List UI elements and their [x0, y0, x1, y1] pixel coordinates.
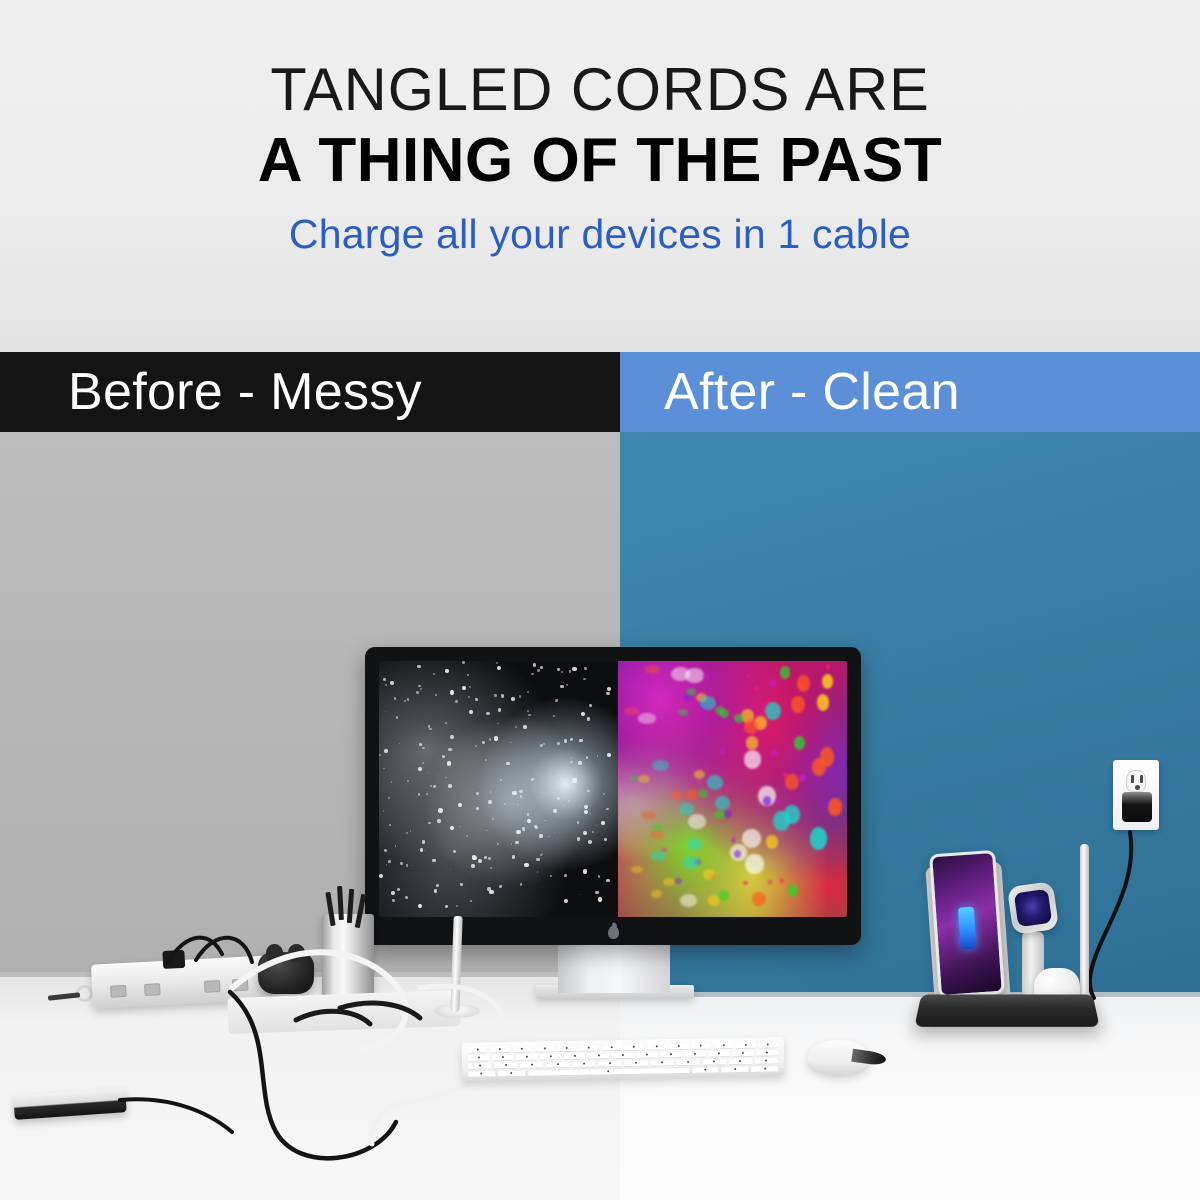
key: [490, 1047, 509, 1053]
smartwatch-screen: [1014, 889, 1052, 927]
key: [520, 1062, 543, 1068]
smartwatch-charging: [1007, 881, 1059, 935]
key: [647, 1044, 666, 1050]
key: [572, 1061, 595, 1067]
power-adapter-icon: [1122, 792, 1152, 822]
key: [651, 1060, 674, 1066]
promo-image-root: TANGLED CORDS ARE A THING OF THE PAST Ch…: [0, 0, 1200, 1200]
key: [669, 1044, 688, 1050]
key: [677, 1060, 700, 1066]
cable-layer: [0, 432, 1200, 1200]
key: [468, 1047, 487, 1053]
header-section: TANGLED CORDS ARE A THING OF THE PAST Ch…: [0, 0, 1200, 352]
key: [733, 1051, 754, 1057]
key: [498, 1071, 525, 1077]
key: [625, 1061, 648, 1067]
keyboard: [462, 1037, 785, 1081]
key: [494, 1063, 517, 1069]
headline-line-1: TANGLED CORDS ARE: [270, 58, 929, 122]
key: [722, 1067, 749, 1073]
wireless-charging-dock: [914, 994, 1099, 1026]
key: [468, 1055, 489, 1061]
key: [564, 1054, 585, 1060]
key: [516, 1054, 537, 1060]
outlet-slot: [1131, 775, 1134, 783]
key: [540, 1054, 561, 1060]
comparison-banner-row: Before - Messy After - Clean: [0, 352, 1200, 432]
mouse: [808, 1040, 870, 1074]
key: [636, 1052, 657, 1058]
key: [692, 1067, 719, 1073]
key: [703, 1059, 726, 1065]
outlet-slot: [1140, 775, 1143, 783]
key: [691, 1043, 710, 1049]
key: [588, 1053, 609, 1059]
key: [624, 1045, 643, 1051]
subheadline: Charge all your devices in 1 cable: [289, 210, 911, 258]
wall-outlet-icon: [1113, 760, 1159, 830]
cable-black: [196, 938, 252, 962]
key: [736, 1043, 755, 1049]
key: [729, 1059, 752, 1065]
key: [492, 1055, 513, 1061]
key: [757, 1050, 778, 1056]
key-spacebar: [528, 1068, 689, 1077]
key: [512, 1047, 531, 1053]
key: [709, 1051, 730, 1057]
key: [468, 1063, 491, 1069]
key: [602, 1045, 621, 1051]
banner-before-messy: Before - Messy: [0, 352, 620, 432]
key: [751, 1066, 778, 1072]
key: [612, 1053, 633, 1059]
smartphone-charging: [929, 850, 1005, 998]
outlet-ground: [1135, 785, 1140, 790]
key: [546, 1062, 569, 1068]
key: [685, 1052, 706, 1058]
banner-after-clean: After - Clean: [620, 352, 1200, 432]
key: [714, 1043, 733, 1049]
key: [598, 1061, 621, 1067]
charging-indicator: [958, 906, 977, 949]
key: [468, 1071, 495, 1077]
key: [535, 1046, 554, 1052]
key: [661, 1052, 682, 1058]
apple-pencil: [1080, 844, 1089, 1008]
cable-black: [120, 1099, 232, 1132]
outlet-socket: [1126, 770, 1146, 792]
single-cable: [1090, 832, 1131, 998]
key: [758, 1042, 777, 1048]
key: [580, 1045, 599, 1051]
comparison-scene: [0, 432, 1200, 1200]
cable-black: [296, 1011, 370, 1024]
key: [557, 1046, 576, 1052]
key: [755, 1058, 778, 1064]
headline-line-2: A THING OF THE PAST: [258, 128, 943, 194]
